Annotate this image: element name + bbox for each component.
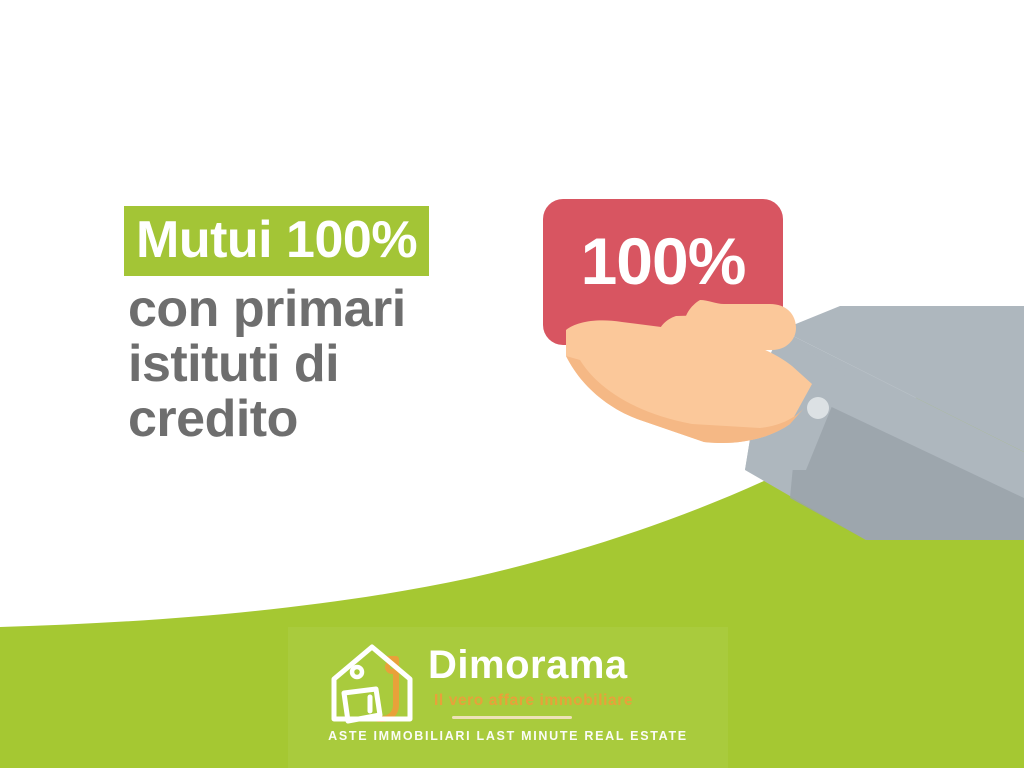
promo-banner: Mutui 100% con primari istituti di credi… [0, 0, 1024, 768]
headline-highlight-wrap: Mutui 100% [124, 206, 544, 276]
headline-line-2: istituti di [128, 337, 544, 392]
house-logo-icon [326, 641, 422, 727]
logo-wordmark-group: Dimorama Il vero affare immobiliare [428, 645, 718, 719]
headline-block: Mutui 100% con primari istituti di credi… [124, 206, 544, 447]
logo-strapline: ASTE IMMOBILIARI LAST MINUTE REAL ESTATE [288, 729, 728, 743]
headline-line-1: con primari [128, 282, 544, 337]
percent-card-value: 100% [543, 206, 783, 316]
headline-subtext: con primari istituti di credito [124, 282, 544, 447]
percent-card [543, 199, 783, 345]
headline-highlight: Mutui 100% [124, 206, 429, 276]
headline-line-3: credito [128, 392, 544, 447]
logo-underline-rule [452, 716, 572, 719]
logo-name: Dimorama [428, 645, 718, 685]
logo-tagline: Il vero affare immobiliare [434, 693, 718, 709]
brand-logo: Dimorama Il vero affare immobiliare ASTE… [288, 627, 728, 768]
